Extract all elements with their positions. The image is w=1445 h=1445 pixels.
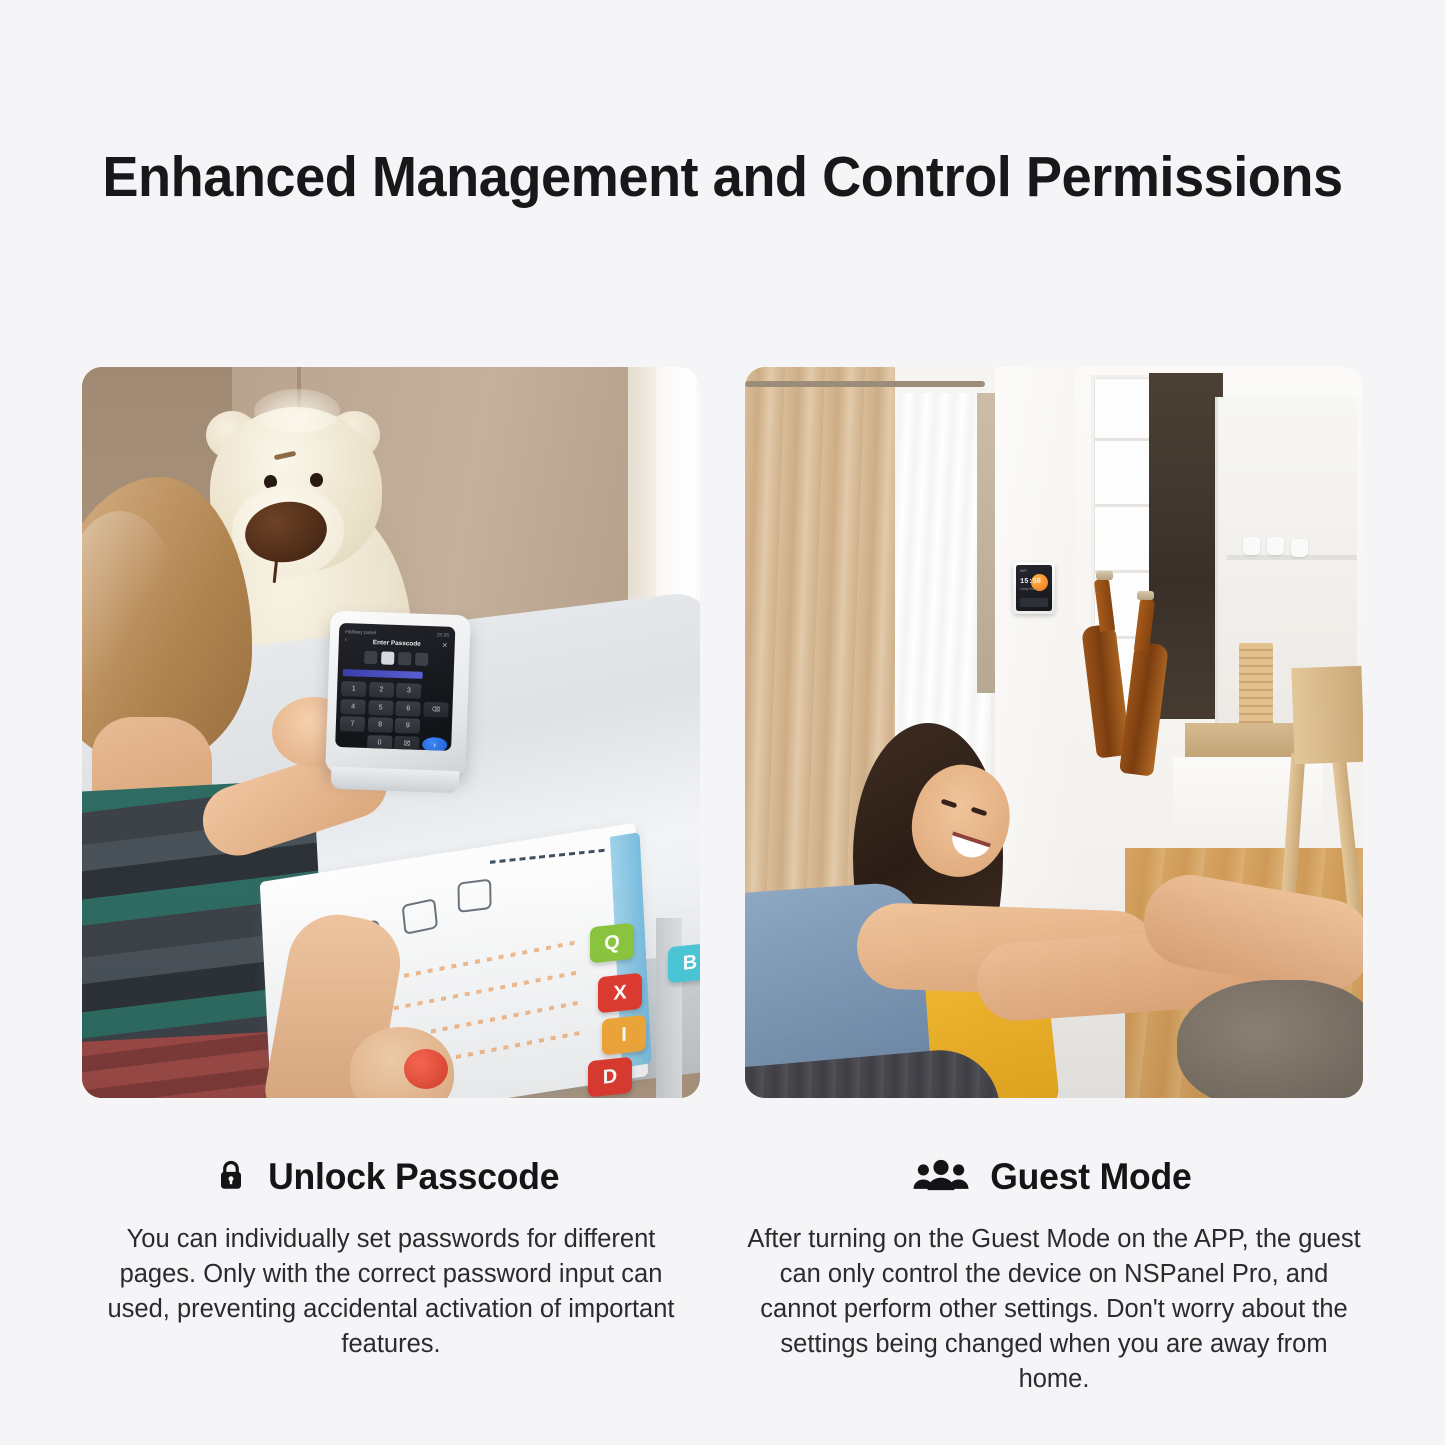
wifi-icon: WiFi (1020, 569, 1027, 573)
photo-friends-toasting: WiFi 15:56 Living Room (745, 367, 1363, 1098)
device-screen-clock[interactable]: WiFi 15:56 Living Room (1016, 565, 1052, 611)
red-crayon (404, 1049, 448, 1089)
teddy-bear-hair-tuft (254, 389, 340, 433)
beer-bottle-cap-left (1096, 571, 1113, 580)
key-7[interactable]: 7 (340, 716, 366, 732)
numeric-keypad[interactable]: 1 2 3 4 5 6 ⌫ 7 8 9 0 ⌧ (339, 681, 449, 751)
workbook-letter-outline (457, 879, 491, 913)
caption-title: Guest Mode (990, 1156, 1191, 1198)
pet-on-couch (1177, 980, 1363, 1098)
shelf-divider (1094, 504, 1150, 507)
key-2[interactable]: 2 (369, 682, 395, 698)
workbook-dotted-line (490, 848, 609, 863)
beer-bottle-cap-right (1137, 591, 1154, 600)
caption-heading-guest-mode: Guest Mode (745, 1154, 1363, 1200)
quick-tile-scene[interactable] (1033, 598, 1048, 607)
feature-card-guest-mode: WiFi 15:56 Living Room (745, 367, 1363, 1397)
feature-card-unlock-passcode: Q B X I D Hallway panel 15:26 ‹ Enter Pa… (82, 367, 700, 1397)
mug (1267, 537, 1284, 555)
letter-block: X (598, 973, 642, 1014)
letter-block: D (588, 1057, 632, 1098)
nspanel-pro-device[interactable]: Hallway panel 15:26 ‹ Enter Passcode ✕ (325, 611, 471, 778)
close-icon[interactable]: ✕ (442, 642, 448, 650)
feature-cards: Q B X I D Hallway panel 15:26 ‹ Enter Pa… (82, 367, 1363, 1397)
passcode-box (415, 653, 428, 666)
delete-icon[interactable]: ⌧ (394, 735, 420, 750)
mug (1243, 537, 1260, 555)
letter-block: Q (590, 923, 634, 964)
jenga-tower (1239, 643, 1273, 727)
wooden-chair-seat (1291, 666, 1363, 764)
key-6[interactable]: 6 (396, 700, 422, 716)
key-spacer (339, 733, 365, 749)
caption-title: Unlock Passcode (268, 1156, 559, 1198)
passcode-box (398, 652, 411, 665)
letter-block: I (602, 1015, 646, 1056)
passcode-box-active (381, 651, 394, 664)
screen-title: Enter Passcode (339, 638, 455, 649)
key-1[interactable]: 1 (341, 681, 367, 697)
submit-passcode-button[interactable]: › (422, 736, 448, 751)
key-5[interactable]: 5 (368, 699, 394, 715)
letter-block: B (668, 943, 700, 984)
passcode-box (364, 651, 377, 664)
teddy-bear-eye-right (310, 473, 323, 487)
status-left-label: Hallway panel (345, 629, 376, 636)
photo-child-desk-passcode: Q B X I D Hallway panel 15:26 ‹ Enter Pa… (82, 367, 700, 1098)
status-right-time: 15:26 (436, 632, 449, 638)
passcode-entry-boxes (364, 651, 428, 666)
users-group-icon (912, 1158, 970, 1197)
curtain-rod (745, 381, 985, 387)
page-title: Enhanced Management and Control Permissi… (36, 142, 1409, 212)
shelf-divider (1094, 438, 1150, 441)
workbook-letter-outline (402, 898, 439, 935)
key-3[interactable]: 3 (396, 683, 422, 699)
device-screen-passcode[interactable]: Hallway panel 15:26 ‹ Enter Passcode ✕ (335, 623, 455, 751)
clock-time: 15:56 (1020, 578, 1041, 586)
key-spacer (422, 719, 448, 735)
key-9[interactable]: 9 (395, 718, 421, 734)
caption-heading-unlock-passcode: Unlock Passcode (82, 1154, 700, 1200)
caption-body: After turning on the Guest Mode on the A… (745, 1222, 1363, 1397)
key-4[interactable]: 4 (340, 699, 366, 715)
key-0[interactable]: 0 (367, 734, 393, 750)
backspace-icon[interactable]: ⌫ (423, 701, 449, 717)
key-spacer (424, 684, 450, 700)
device-stand (331, 767, 460, 793)
nspanel-pro-wall-device[interactable]: WiFi 15:56 Living Room (1013, 562, 1055, 614)
room-label: Living Room (1020, 587, 1038, 591)
desk-leg (656, 918, 682, 1098)
lock-icon (216, 1158, 246, 1197)
caption-body: You can individually set passwords for d… (82, 1222, 700, 1362)
mug (1291, 539, 1308, 557)
progress-bar (343, 669, 423, 679)
key-8[interactable]: 8 (367, 717, 393, 733)
